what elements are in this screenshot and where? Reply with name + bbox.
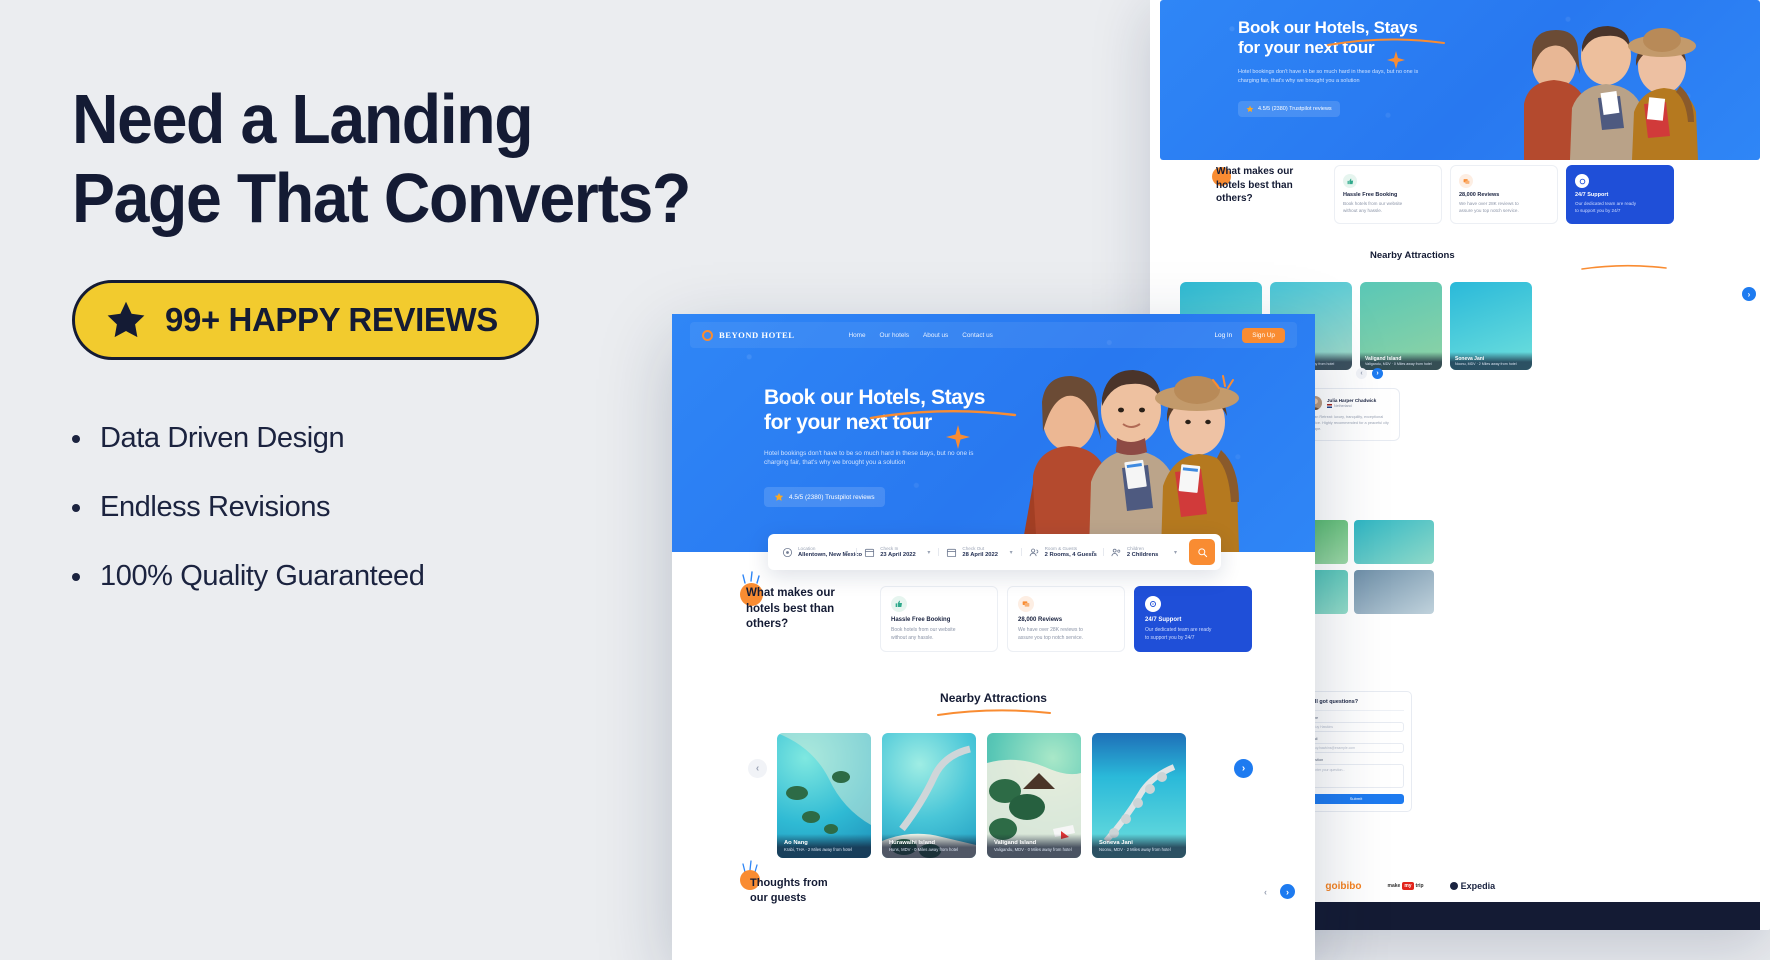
nav-link-contact-us[interactable]: Contact us <box>962 332 993 339</box>
benefits-list: Data Driven Design Endless Revisions 100… <box>72 422 772 593</box>
benefit-label: 100% Quality Guaranteed <box>100 560 425 593</box>
happy-reviews-badge[interactable]: 99+ HAPPY REVIEWS <box>72 280 539 360</box>
chevron-down-icon[interactable]: ▾ <box>927 549 930 556</box>
thoughts-line2: our guests <box>750 892 806 904</box>
feature-card[interactable]: 24/7 Support Our dedicated team are read… <box>1566 165 1674 224</box>
wm-line2: hotels best than <box>746 603 834 615</box>
secondary-hero: Book our Hotels, Stays for your next tou… <box>1160 0 1760 160</box>
search-submit-button[interactable] <box>1189 539 1215 565</box>
star-icon <box>105 299 147 341</box>
hero-sub-line1: Hotel bookings don't have to be so much … <box>764 450 973 457</box>
name-label: Name <box>1308 716 1404 720</box>
feature-card-support[interactable]: 24/7 Support Our dedicated team are read… <box>1134 586 1252 652</box>
headline-line-2: Page That Converts? <box>72 159 690 237</box>
attraction-card[interactable]: Valigand Island Valigandu, MDV · 0 Miles… <box>1360 282 1442 370</box>
location-pin-icon <box>782 547 793 558</box>
headline-line-1: Need a Landing <box>72 80 532 158</box>
wm-line3: others? <box>746 618 788 630</box>
badge-label: 99+ HAPPY REVIEWS <box>165 301 498 339</box>
bullet-dot-icon <box>72 504 80 512</box>
hero-family-photo <box>997 354 1259 552</box>
trust-text: 4.5/5 (2380) Trustpilot reviews <box>1258 106 1332 112</box>
list-item: 100% Quality Guaranteed <box>72 560 772 593</box>
attraction-card-soneva-jani[interactable]: Soneva Jani Noonu, MDV · 2 Miles away fr… <box>1092 733 1186 858</box>
partner-logo[interactable]: Expedia <box>1450 881 1496 891</box>
nav-link-about-us[interactable]: About us <box>923 332 948 339</box>
attraction-card-ao-nang[interactable]: Ao Nang Krabi, THA · 2 Miles away from h… <box>777 733 871 858</box>
feature-card-hassle-free[interactable]: Hassle Free Booking Book hotels from our… <box>880 586 998 652</box>
page-title: Need a Landing Page That Converts? <box>72 80 716 238</box>
thumbs-up-icon <box>1347 178 1354 185</box>
chevron-down-icon[interactable]: ▾ <box>1174 549 1177 556</box>
email-label: Email <box>1308 737 1404 741</box>
nav-link-home[interactable]: Home <box>848 332 865 339</box>
support-icon <box>1579 178 1586 185</box>
hotel-landing-mockup-primary[interactable]: BEYOND HOTEL Home Our hotels About us Co… <box>672 314 1315 960</box>
star-icon <box>1246 105 1254 113</box>
heading-swoosh-icon <box>1580 264 1668 271</box>
reviews-next-button[interactable]: › <box>1372 368 1383 379</box>
name-field[interactable]: Guy Hawkins <box>1308 722 1404 732</box>
chevron-down-icon[interactable]: ▾ <box>845 549 848 556</box>
nav-link-our-hotels[interactable]: Our hotels <box>880 332 909 339</box>
ask-question-form[interactable]: Still got questions? Name Guy Hawkins Em… <box>1300 691 1412 812</box>
list-item: Data Driven Design <box>72 422 772 455</box>
email-field[interactable]: guy.hawkins@example.com <box>1308 743 1404 753</box>
search-field-checkin[interactable]: Check In 23 April 2022 ▾ <box>856 546 938 558</box>
feature-card[interactable]: 28,000 Reviews We have over 28K reviews … <box>1450 165 1558 224</box>
wm-line3: others? <box>1216 193 1253 204</box>
reviews-prev-button[interactable]: ‹ <box>1356 368 1367 379</box>
hero-title-line1: Book our Hotels, Stays <box>1238 18 1418 37</box>
calendar-icon <box>946 547 957 558</box>
primary-thoughts-section: Thoughts from our guests ‹ › <box>672 862 1315 960</box>
primary-whatmakes-section: What makes our hotels best than others? … <box>672 586 1315 652</box>
primary-attractions-section: Nearby Attractions Ao Nang Krabi, THA · … <box>672 689 1315 858</box>
login-button[interactable]: Log In <box>1214 332 1232 339</box>
search-field-children[interactable]: Children 2 Childrens ▾ <box>1103 546 1185 558</box>
primary-navbar[interactable]: BEYOND HOTEL Home Our hotels About us Co… <box>690 322 1297 348</box>
question-label: Question <box>1308 758 1404 762</box>
attraction-card-valigand[interactable]: Valigand Island Valigandu, MDV · 0 Miles… <box>987 733 1081 858</box>
review-card[interactable]: Julia Harper Chadwick Netherland Urban R… <box>1300 388 1400 441</box>
hotel-search-bar[interactable]: Location Allentown, New Mexico ▾ Check I… <box>768 534 1221 570</box>
attractions-next-button[interactable]: › <box>1742 287 1756 301</box>
gallery-tile[interactable] <box>1354 520 1434 564</box>
attraction-card[interactable]: Soneva Jani Noonu, MDV · 2 Miles away fr… <box>1450 282 1532 370</box>
bullet-dot-icon <box>72 573 80 581</box>
trustpilot-badge: 4.5/5 (2380) Trustpilot reviews <box>1238 101 1340 117</box>
trust-text: 4.5/5 (2380) Trustpilot reviews <box>789 494 875 501</box>
thumbs-up-icon <box>895 600 903 608</box>
benefit-label: Endless Revisions <box>100 491 330 524</box>
partner-logo[interactable]: goibibo <box>1325 881 1361 892</box>
feature-card-reviews[interactable]: 28,000 Reviews We have over 28K reviews … <box>1007 586 1125 652</box>
wm-line1: What makes our <box>1216 166 1293 177</box>
trustpilot-badge: 4.5/5 (2380) Trustpilot reviews <box>764 487 885 507</box>
attractions-next-button[interactable]: › <box>1234 759 1253 778</box>
attractions-heading: Nearby Attractions <box>940 691 1047 705</box>
title-swoosh-icon <box>1326 37 1446 47</box>
search-field-rooms-guests[interactable]: Room & Guests 2 Rooms, 4 Guests ▾ <box>1021 546 1103 558</box>
calendar-icon <box>864 547 875 558</box>
attractions-heading: Nearby Attractions <box>1370 250 1455 261</box>
reviews-icon <box>1022 600 1030 608</box>
benefit-label: Data Driven Design <box>100 422 344 455</box>
submit-button[interactable]: Submit <box>1308 794 1404 804</box>
question-field[interactable]: Enter your question... <box>1308 764 1404 788</box>
hero-sub-line2: charging fair, that's why we brought you… <box>764 459 905 466</box>
sparkle-icon <box>1386 50 1406 70</box>
feature-card[interactable]: Hassle Free Booking Book hotels from our… <box>1334 165 1442 224</box>
gallery-tile[interactable] <box>1354 570 1434 614</box>
title-swoosh-icon <box>869 408 1017 420</box>
bullet-dot-icon <box>72 435 80 443</box>
beyond-hotel-logo-icon <box>702 330 713 341</box>
sparkle-icon <box>945 424 971 450</box>
promo-panel: Need a Landing Page That Converts? 99+ H… <box>72 80 772 629</box>
search-field-checkout[interactable]: Check Out 28 April 2022 ▾ <box>938 546 1020 558</box>
chevron-down-icon[interactable]: ▾ <box>1092 549 1095 556</box>
partner-logo[interactable]: makemytrip <box>1388 882 1424 890</box>
list-item: Endless Revisions <box>72 491 772 524</box>
search-icon <box>1197 547 1208 558</box>
secondary-whatmakes-section: What makes our hotels best than others? … <box>1160 165 1760 224</box>
children-icon <box>1111 547 1122 558</box>
support-icon <box>1149 600 1157 608</box>
hero-family-photo <box>1494 12 1714 160</box>
attraction-card-hurawalhi[interactable]: Hurawalhi Island Huns, MDV · 0 Miles awa… <box>882 733 976 858</box>
hero-sub-line2: charging fair, that's why we brought you… <box>1238 78 1360 84</box>
guests-icon <box>1029 547 1040 558</box>
logo-text: BEYOND HOTEL <box>719 330 794 340</box>
reviews-icon <box>1463 178 1470 185</box>
search-field-location[interactable]: Location Allentown, New Mexico ▾ <box>774 546 856 558</box>
hero-title-line1: Book our Hotels, Stays <box>764 386 985 409</box>
wm-line1: What makes our <box>746 587 835 599</box>
heading-swoosh-icon <box>936 708 1052 717</box>
star-icon <box>774 492 784 502</box>
thoughts-line1: Thoughts from <box>750 877 828 889</box>
chevron-down-icon[interactable]: ▾ <box>1010 549 1013 556</box>
signup-button[interactable]: Sign Up <box>1242 328 1285 343</box>
nl-flag-icon <box>1327 404 1332 408</box>
wm-line2: hotels best than <box>1216 180 1293 191</box>
attractions-prev-button[interactable]: ‹ <box>748 759 767 778</box>
